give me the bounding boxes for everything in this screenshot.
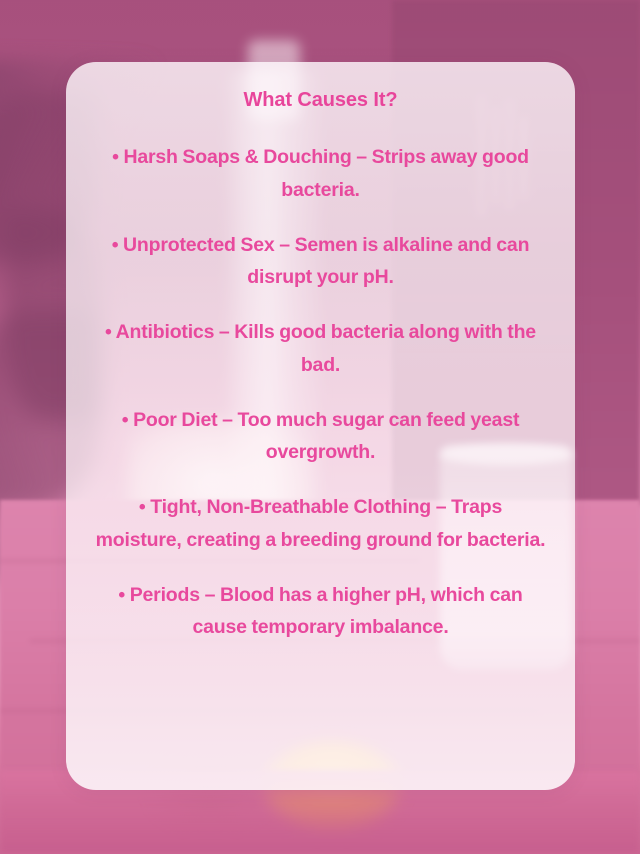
list-item: • Periods – Blood has a higher pH, which…: [88, 557, 553, 645]
card-title: What Causes It?: [88, 88, 553, 113]
causes-list: • Harsh Soaps & Douching – Strips away g…: [88, 119, 553, 644]
list-item: • Poor Diet – Too much sugar can feed ye…: [88, 382, 553, 470]
list-item: • Tight, Non-Breathable Clothing – Traps…: [88, 469, 553, 557]
list-item: • Harsh Soaps & Douching – Strips away g…: [88, 119, 553, 207]
list-item: • Antibiotics – Kills good bacteria alon…: [88, 294, 553, 382]
list-item: • Unprotected Sex – Semen is alkaline an…: [88, 207, 553, 295]
poster-canvas: What Causes It? • Harsh Soaps & Douching…: [0, 0, 640, 854]
info-card: What Causes It? • Harsh Soaps & Douching…: [66, 62, 575, 790]
